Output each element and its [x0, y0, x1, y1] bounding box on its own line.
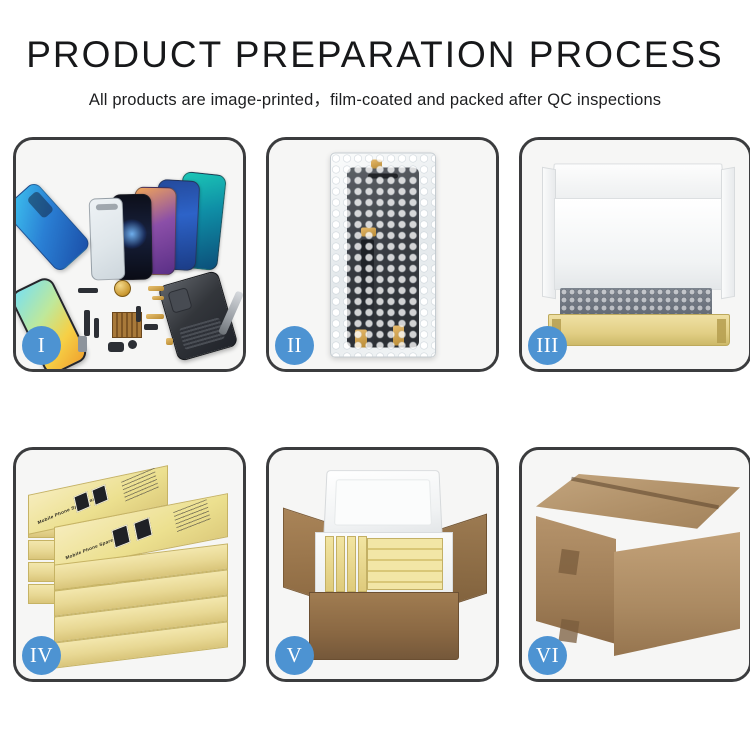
carton-right-panel — [614, 532, 740, 656]
sealed-carton-icon — [536, 474, 740, 660]
step-badge: III — [528, 326, 567, 365]
phone-icon — [16, 180, 92, 273]
step-badge: IV — [22, 636, 61, 675]
product-window-icon — [91, 484, 108, 506]
process-step-panel-2: II — [266, 137, 499, 372]
spare-parts-icon — [166, 338, 173, 345]
process-step-panel-1: I — [13, 137, 246, 372]
carton-front-panel — [309, 592, 459, 660]
spare-parts-icon — [94, 318, 99, 338]
retail-box-icon — [336, 536, 345, 592]
packing-tape-icon — [355, 329, 367, 347]
spare-parts-icon — [84, 310, 90, 336]
spare-parts-icon — [152, 296, 164, 300]
retail-box-icon — [325, 536, 334, 592]
step-badge: II — [275, 326, 314, 365]
kraft-tray-icon — [548, 314, 730, 346]
screen-protector-icon — [89, 197, 126, 280]
process-step-panel-6: VI — [519, 447, 750, 682]
process-step-panel-3: III — [519, 137, 750, 372]
spare-parts-icon — [148, 286, 164, 291]
step-badge: I — [22, 326, 61, 365]
product-window-icon — [133, 517, 152, 541]
box-flap-right — [721, 167, 735, 299]
spare-parts-icon — [108, 342, 124, 352]
spare-parts-icon — [128, 340, 137, 349]
spare-parts-icon — [78, 288, 98, 293]
process-step-panel-5: V — [266, 447, 499, 682]
spare-parts-icon — [78, 336, 87, 352]
product-window-icon — [73, 491, 90, 513]
step-badge: VI — [528, 636, 567, 675]
page-header: PRODUCT PREPARATION PROCESS All products… — [0, 0, 750, 110]
open-carton-icon — [283, 468, 487, 668]
spare-parts-icon — [144, 324, 158, 330]
retail-box-icon — [347, 536, 356, 592]
foam-insert-icon — [554, 198, 722, 290]
packing-tape-icon — [559, 619, 580, 643]
spare-parts-icon — [136, 306, 141, 322]
retail-box-icon — [358, 536, 367, 592]
box-spec-lines — [121, 468, 159, 503]
retail-box-icon — [367, 538, 443, 590]
page-title: PRODUCT PREPARATION PROCESS — [0, 36, 750, 73]
open-box-icon — [540, 162, 737, 352]
foam-lid-icon — [323, 470, 442, 535]
flex-cable-icon — [361, 239, 374, 343]
product-window-icon — [111, 524, 130, 548]
process-step-panel-4: Mobile Phone Spare Parts Mobile Phone Sp… — [13, 447, 246, 682]
spare-parts-icon — [114, 280, 131, 297]
packing-tape-icon — [361, 227, 376, 236]
process-step-grid: I II II — [13, 137, 750, 682]
packing-tape-icon — [371, 159, 382, 168]
step-badge: V — [275, 636, 314, 675]
box-spec-lines — [173, 499, 211, 533]
bubble-wrap-icon — [330, 152, 436, 357]
spare-parts-icon — [146, 314, 164, 319]
packing-tape-icon — [393, 325, 404, 345]
packing-tape-icon — [558, 549, 579, 575]
lcd-screen-icon — [347, 167, 419, 347]
page-subtitle: All products are image-printed，film-coat… — [0, 86, 750, 110]
